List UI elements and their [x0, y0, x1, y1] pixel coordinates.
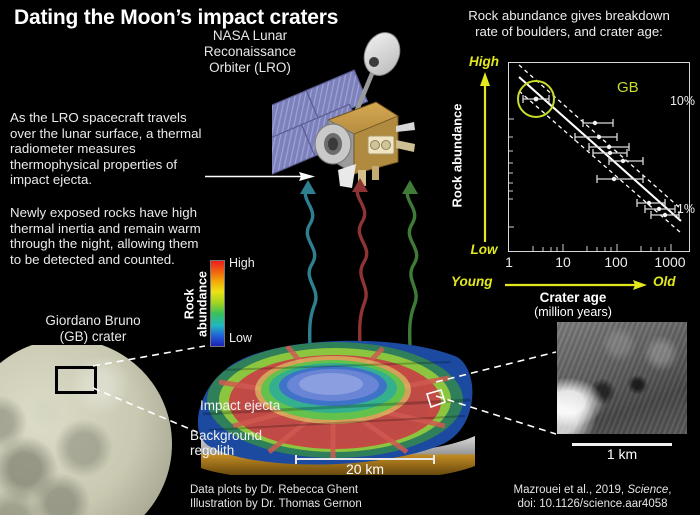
beam-red-arrow-icon	[352, 178, 368, 192]
thruster-icon	[396, 122, 415, 132]
chart-xtick-2: 100	[596, 254, 636, 270]
chart-header-line1: Rock abundance gives breakdown	[443, 8, 695, 24]
beam-teal-arrow-icon	[300, 180, 316, 194]
background-regolith-line1: Background	[190, 428, 262, 443]
credits-data-plots: Data plots by Dr. Rebecca Ghent	[190, 484, 362, 498]
terrain-scale-label: 20 km	[295, 461, 435, 477]
citation-line1: Mazrouei et al., 2019, Science,	[490, 484, 695, 498]
intro-paragraph-2: Newly exposed rocks have high thermal in…	[10, 205, 205, 267]
chart-xtick-1: 10	[543, 254, 583, 270]
credits-citation: Mazrouei et al., 2019, Science, doi: 10.…	[490, 484, 695, 511]
background-regolith-line2: regolith	[190, 443, 262, 458]
chart-x-axis-title-text: Crater age	[473, 290, 673, 305]
beam-green-arrow-icon	[402, 180, 418, 194]
background-regolith-label: Background regolith	[190, 428, 262, 458]
moon-crater-label-line1: Giordano Bruno	[8, 313, 178, 329]
inset-scale-label: 1 km	[572, 446, 672, 462]
beam-teal	[305, 186, 316, 354]
chart-header: Rock abundance gives breakdown rate of b…	[443, 8, 695, 39]
intro-paragraph-1: As the LRO spacecraft travels over the l…	[10, 110, 205, 188]
credits-illustration: Illustration by Dr. Thomas Gernon	[190, 498, 362, 512]
chart-svg	[509, 63, 689, 251]
chart-xtick-3: 1000	[650, 254, 690, 270]
chart-xtick-0: 1	[489, 254, 529, 270]
y-minor-ticks	[509, 119, 514, 227]
citation-authors: Mazrouei et al., 2019,	[514, 484, 628, 496]
citation-doi: doi: 10.1126/science.aar4058	[490, 498, 695, 512]
chart-x-low-label: Young	[451, 274, 493, 289]
chart-plot-area: GB	[508, 62, 690, 252]
chart-y-axis-title-text: Rock abundance	[450, 66, 465, 246]
instrument-arm	[396, 140, 415, 152]
beam-red	[357, 184, 366, 354]
inset-scale-bar: 1 km	[572, 441, 672, 465]
dish-feed-icon	[369, 57, 379, 67]
confidence-band-lower	[519, 91, 681, 233]
data-point-0	[523, 95, 549, 103]
terrain-scale-bar: 20 km	[295, 455, 435, 479]
colorbar-high-label: High	[229, 256, 255, 270]
data-point-7	[637, 199, 665, 207]
beam-green	[407, 186, 416, 350]
lro-surface-photo-inset	[557, 322, 687, 434]
chart-x-axis-title: Crater age (million years)	[473, 290, 673, 320]
rock-abundance-vs-age-chart: Rock abundance High Low 10% 1%	[443, 46, 695, 296]
callout-lines-crater-to-inset	[430, 350, 565, 460]
terrain-scale-bar-line	[295, 458, 435, 460]
impact-ejecta-label: Impact ejecta	[200, 398, 280, 413]
dish-antenna	[358, 27, 406, 81]
citation-journal: Science	[627, 484, 668, 496]
chart-y-axis-title: Rock abundance	[447, 62, 467, 250]
x-minor-ticks	[533, 244, 671, 251]
data-point-5	[609, 157, 643, 165]
infographic-canvas: Dating the Moon’s impact craters NASA Lu…	[0, 0, 700, 515]
chart-x-high-label: Old	[653, 274, 676, 289]
data-point-2	[575, 133, 617, 141]
citation-comma: ,	[668, 484, 671, 496]
chart-y-high-label: High	[457, 54, 511, 69]
chart-header-line2: rate of boulders, and crater age:	[443, 24, 695, 40]
chart-x-axis-units: (million years)	[473, 305, 673, 320]
credits-left: Data plots by Dr. Rebecca Ghent Illustra…	[190, 484, 362, 511]
x-axis-direction-arrow	[505, 280, 647, 290]
gb-annotation-label: GB	[617, 79, 639, 96]
y-axis-direction-arrow	[479, 72, 491, 244]
